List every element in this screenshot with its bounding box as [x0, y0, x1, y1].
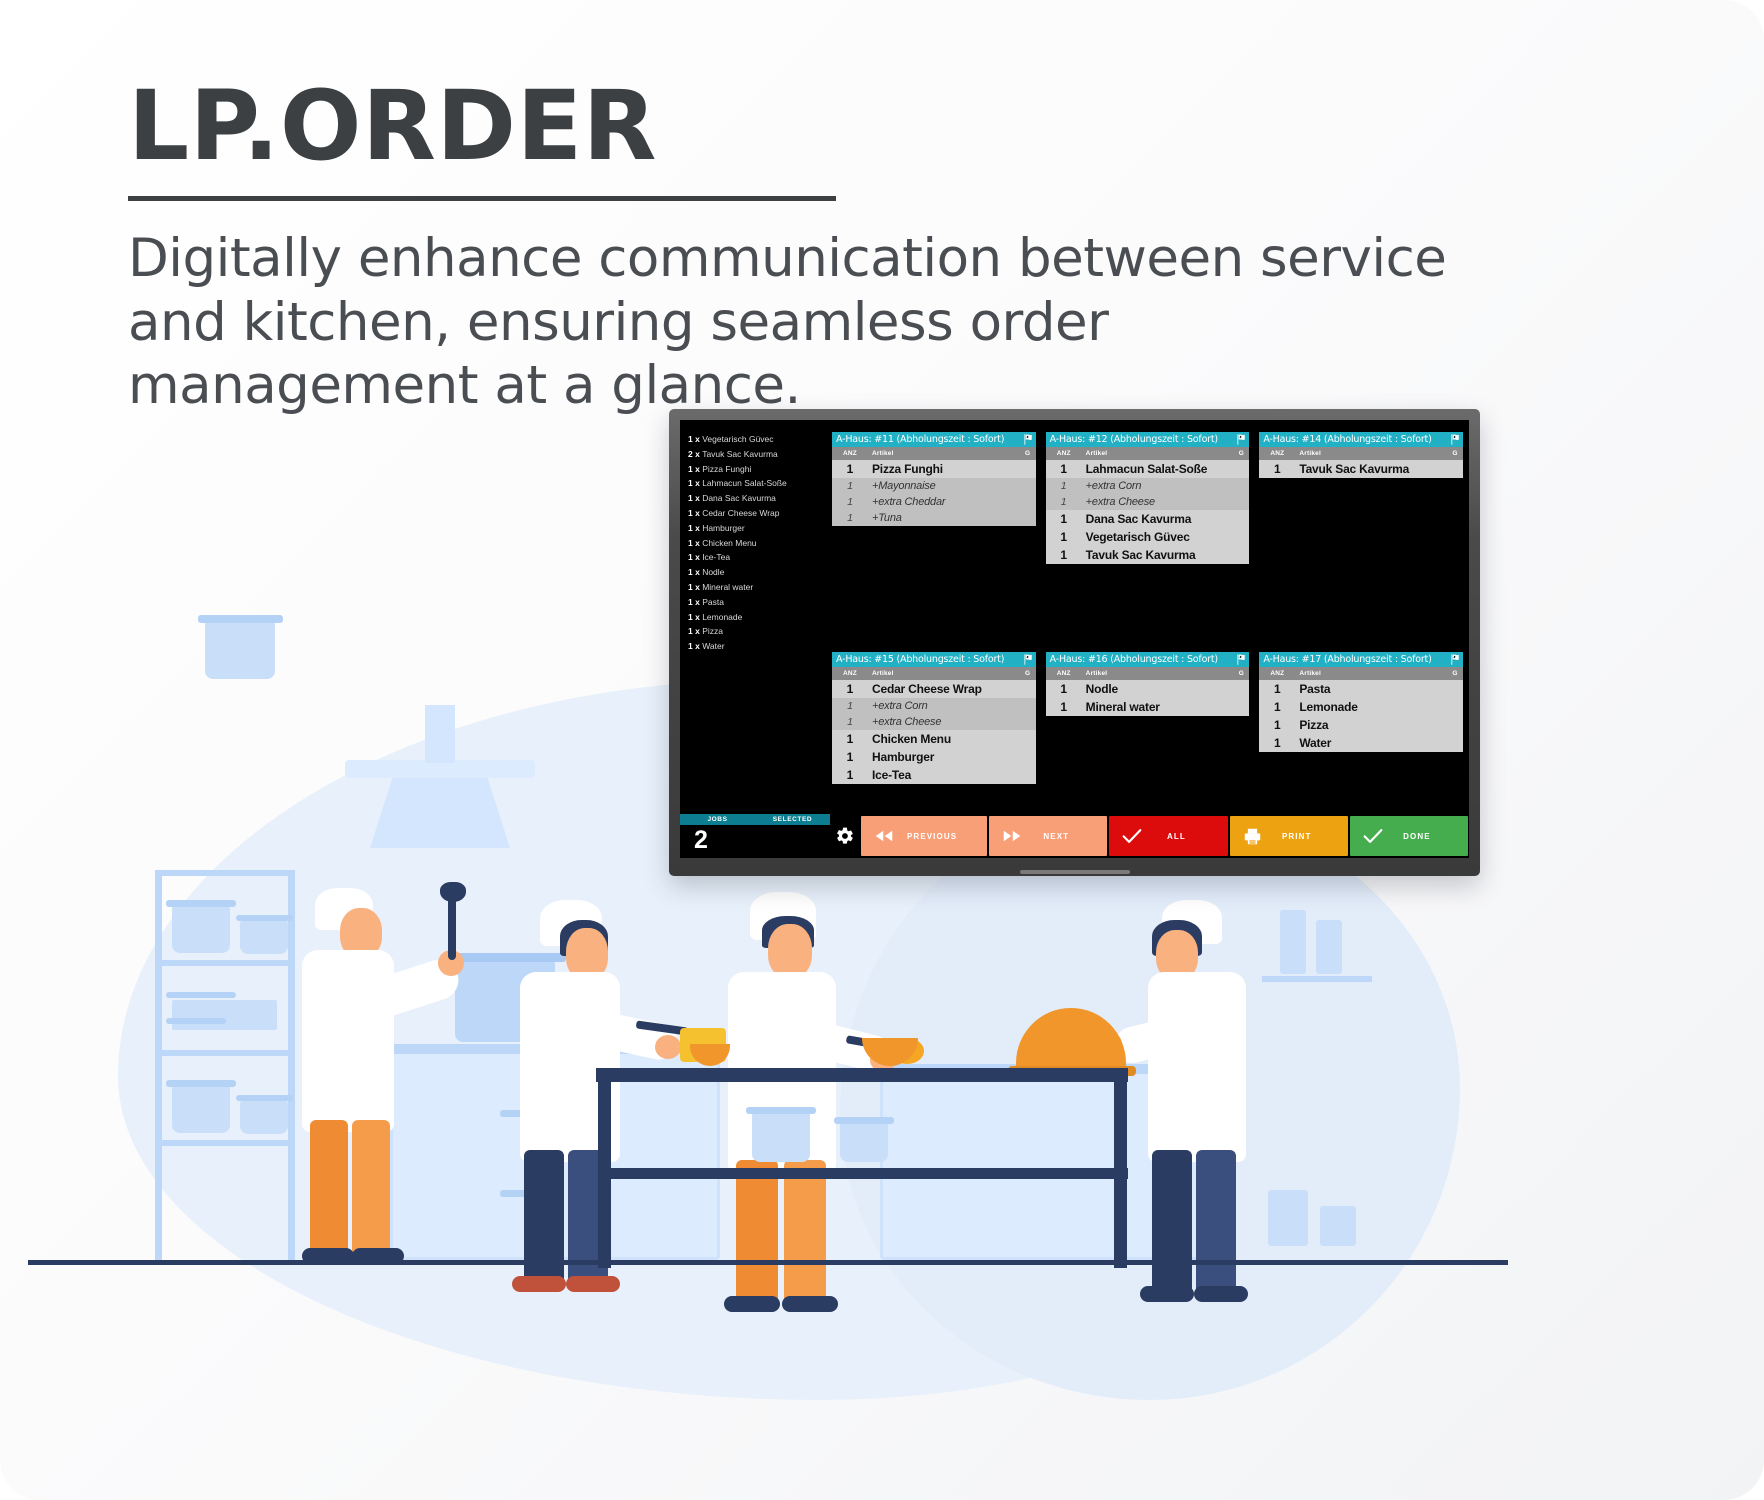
printer-icon	[1230, 828, 1276, 845]
item-qty: 1	[1046, 512, 1082, 526]
undertable-pot-1	[752, 1112, 810, 1162]
order-card-title: A-Haus: #12 (Abholungszeit : Sofort)	[1050, 434, 1218, 445]
chef-4-leg-right	[1196, 1150, 1236, 1300]
summary-row: 1 x Nodle	[688, 565, 828, 580]
order-item-row[interactable]: 1Lemonade	[1259, 698, 1463, 716]
order-item-row[interactable]: 1Vegetarisch Güvec	[1046, 528, 1250, 546]
chef-3-head	[768, 924, 812, 978]
chef-4-shoe-left	[1140, 1286, 1194, 1302]
order-item-row[interactable]: 1Tavuk Sac Kavurma	[1046, 546, 1250, 564]
shelf-post-left	[155, 870, 162, 1260]
order-cards-row-2: A-Haus: #15 (Abholungszeit : Sofort)ANZA…	[832, 652, 1463, 784]
item-qty: 1	[1259, 718, 1295, 732]
check-icon	[1350, 828, 1396, 844]
chef-1-ladle-bowl	[440, 882, 466, 902]
item-name: +Tuna	[868, 512, 1036, 524]
item-qty: 1	[832, 512, 868, 524]
order-item-row[interactable]: 1Cedar Cheese Wrap	[832, 680, 1036, 698]
order-cards-row-1: A-Haus: #11 (Abholungszeit : Sofort)ANZA…	[832, 432, 1463, 564]
item-qty: 1	[832, 496, 868, 508]
order-card-header: A-Haus: #16 (Abholungszeit : Sofort)	[1046, 652, 1250, 667]
column-header-artikel: Artikel	[1082, 670, 1234, 677]
rewind-icon	[861, 830, 907, 842]
order-card-columns: ANZArtikelG	[1259, 447, 1463, 460]
item-qty: 1	[832, 480, 868, 492]
summary-multiplier: x	[693, 434, 702, 444]
summary-row: 1 x Dana Sac Kavurma	[688, 491, 828, 506]
flag-icon[interactable]	[1235, 653, 1248, 666]
summary-item-name: Tavuk Sac Kavurma	[702, 449, 778, 459]
summary-item-name: Pasta	[702, 597, 724, 607]
summary-multiplier: x	[693, 449, 702, 459]
item-qty: 1	[1046, 496, 1082, 508]
item-name: Pizza Funghi	[868, 462, 1036, 476]
title-underline	[128, 196, 836, 201]
order-card-title: A-Haus: #16 (Abholungszeit : Sofort)	[1050, 654, 1218, 665]
pan-stack	[172, 1000, 277, 1030]
chef-3-shoe-right	[782, 1296, 838, 1312]
order-card-title: A-Haus: #15 (Abholungszeit : Sofort)	[836, 654, 1004, 665]
pot-shelf-4	[240, 1100, 288, 1134]
flag-icon[interactable]	[1449, 433, 1462, 446]
summary-row: 1 x Water	[688, 639, 828, 654]
order-item-row[interactable]: 1Chicken Menu	[832, 730, 1036, 748]
order-item-row[interactable]: 1Mineral water	[1046, 698, 1250, 716]
column-header-artikel: Artikel	[1082, 450, 1234, 457]
column-header-g: G	[1447, 670, 1463, 677]
summary-multiplier: x	[693, 493, 702, 503]
pot-shelf-1	[172, 905, 230, 953]
range-hood-body	[370, 778, 510, 848]
item-qty: 1	[1259, 462, 1295, 476]
pot-lid-shelf-3	[166, 1080, 236, 1087]
done-button-label: DONE	[1396, 832, 1468, 841]
next-button[interactable]: NEXT	[989, 816, 1107, 856]
flag-icon	[1449, 433, 1462, 446]
column-header-artikel: Artikel	[1295, 670, 1447, 677]
pot-shelf-2	[240, 920, 288, 954]
item-qty: 1	[1259, 736, 1295, 750]
order-card-title: A-Haus: #11 (Abholungszeit : Sofort)	[836, 434, 1004, 445]
order-card-body: 1Pizza Funghi1+Mayonnaise1+extra Cheddar…	[832, 460, 1036, 526]
summary-row: 2 x Tavuk Sac Kavurma	[688, 447, 828, 462]
chef-2-shoe-right	[566, 1276, 620, 1292]
summary-item-name: Water	[702, 641, 724, 651]
summary-item-name: Nodle	[702, 567, 724, 577]
prep-table-shelf	[598, 1168, 1128, 1179]
column-header-artikel: Artikel	[868, 670, 1020, 677]
summary-multiplier: x	[693, 582, 702, 592]
column-header-anz: ANZ	[1046, 450, 1082, 457]
kds-screen: 1 x Vegetarisch Güvec2 x Tavuk Sac Kavur…	[680, 420, 1469, 858]
summary-item-name: Pizza Funghi	[702, 464, 751, 474]
summary-item-name: Chicken Menu	[702, 538, 756, 548]
shelf-post-right	[288, 870, 295, 1260]
column-header-anz: ANZ	[832, 450, 868, 457]
summary-multiplier: x	[693, 612, 702, 622]
column-header-artikel: Artikel	[1295, 450, 1447, 457]
item-qty: 1	[832, 732, 868, 746]
item-qty: 1	[1259, 682, 1295, 696]
chef-3-leg-right	[784, 1160, 826, 1310]
order-modifier-row[interactable]: 1+Mayonnaise	[832, 478, 1036, 494]
range-hood-duct	[425, 705, 455, 763]
pot-shelf-3	[172, 1085, 230, 1133]
summary-item-name: Lemonade	[702, 612, 742, 622]
prep-table-top	[596, 1068, 1128, 1082]
order-card[interactable]: A-Haus: #15 (Abholungszeit : Sofort)ANZA…	[832, 652, 1036, 784]
item-name: +extra Cheese	[868, 716, 1036, 728]
flag-icon	[1449, 653, 1462, 666]
pot-lid-shelf-2	[236, 915, 293, 921]
jar-1	[1280, 910, 1306, 974]
order-card-columns: ANZArtikelG	[1046, 447, 1250, 460]
summary-multiplier: x	[693, 538, 702, 548]
column-header-g: G	[1020, 670, 1036, 677]
chef-2-leg-left	[524, 1150, 564, 1290]
item-name: Hamburger	[868, 750, 1036, 764]
item-name: Vegetarisch Güvec	[1082, 530, 1250, 544]
pot-lid-shelf-4	[236, 1095, 293, 1101]
subtitle: Digitally enhance communication between …	[128, 227, 1458, 418]
order-card-columns: ANZArtikelG	[832, 667, 1036, 680]
check-icon	[1109, 828, 1155, 844]
kds-toolbar: JOBS SELECTED 2 PREVIOUS	[680, 814, 1469, 858]
item-qty: 1	[1046, 530, 1082, 544]
order-card-header: A-Haus: #15 (Abholungszeit : Sofort)	[832, 652, 1036, 667]
summary-multiplier: x	[693, 508, 702, 518]
column-header-anz: ANZ	[832, 670, 868, 677]
column-header-anz: ANZ	[1046, 670, 1082, 677]
jar-3	[1268, 1190, 1308, 1246]
jobs-counter-header: JOBS SELECTED	[680, 814, 830, 825]
summary-row: 1 x Lahmacun Salat-Soße	[688, 476, 828, 491]
order-card-title: A-Haus: #14 (Abholungszeit : Sofort)	[1263, 434, 1431, 445]
item-qty: 1	[832, 750, 868, 764]
order-card-body: 1Tavuk Sac Kavurma	[1259, 460, 1463, 478]
flag-icon	[1235, 433, 1248, 446]
shelf-board-1	[155, 870, 295, 876]
summary-row: 1 x Lemonade	[688, 610, 828, 625]
chef-2-shoe-left	[512, 1276, 566, 1292]
print-button-label: PRINT	[1276, 832, 1348, 841]
flag-icon[interactable]	[1022, 433, 1035, 446]
order-cards-grid: A-Haus: #11 (Abholungszeit : Sofort)ANZA…	[832, 432, 1463, 784]
summary-row: 1 x Hamburger	[688, 521, 828, 536]
chef-1-leg-right	[352, 1120, 390, 1260]
undertable-pot-2-lid	[834, 1117, 894, 1124]
order-card-body: 1Cedar Cheese Wrap1+extra Corn1+extra Ch…	[832, 680, 1036, 784]
item-name: +extra Corn	[1082, 480, 1250, 492]
order-modifier-row[interactable]: 1+Tuna	[832, 510, 1036, 526]
summary-row: 1 x Pizza	[688, 624, 828, 639]
summary-item-name: Ice-Tea	[702, 552, 730, 562]
item-name: Ice-Tea	[868, 768, 1036, 782]
item-name: +extra Cheese	[1082, 496, 1250, 508]
column-header-anz: ANZ	[1259, 450, 1295, 457]
summary-row: 1 x Vegetarisch Güvec	[688, 432, 828, 447]
item-name: +extra Corn	[868, 700, 1036, 712]
order-card-columns: ANZArtikelG	[1046, 667, 1250, 680]
order-card-body: 1Nodle1Mineral water	[1046, 680, 1250, 716]
order-modifier-row[interactable]: 1+extra Cheese	[1046, 494, 1250, 510]
order-card-header: A-Haus: #17 (Abholungszeit : Sofort)	[1259, 652, 1463, 667]
pot-lid-top-shelf	[198, 615, 283, 623]
item-qty: 1	[832, 716, 868, 728]
flag-icon[interactable]	[1449, 653, 1462, 666]
item-name: Cedar Cheese Wrap	[868, 682, 1036, 696]
flag-icon	[1022, 653, 1035, 666]
floor-line	[28, 1260, 1508, 1265]
order-card[interactable]: A-Haus: #12 (Abholungszeit : Sofort)ANZA…	[1046, 432, 1250, 564]
order-item-row[interactable]: 1Dana Sac Kavurma	[1046, 510, 1250, 528]
all-button[interactable]: ALL	[1109, 816, 1227, 856]
item-qty: 1	[832, 700, 868, 712]
item-qty: 1	[1046, 548, 1082, 562]
jar-4	[1320, 1206, 1356, 1246]
item-qty: 1	[1046, 480, 1082, 492]
order-item-row[interactable]: 1Tavuk Sac Kavurma	[1259, 460, 1463, 478]
item-qty: 1	[832, 768, 868, 782]
item-name: Chicken Menu	[868, 732, 1036, 746]
previous-button[interactable]: PREVIOUS	[861, 816, 987, 856]
chef-3-leg-left	[736, 1160, 778, 1310]
order-modifier-row[interactable]: 1+extra Cheese	[832, 714, 1036, 730]
summary-row: 1 x Mineral water	[688, 580, 828, 595]
pan-handle-1	[166, 992, 236, 998]
item-qty: 1	[832, 682, 868, 696]
chef-1-leg-left	[310, 1120, 348, 1260]
jobs-count-value: 2	[680, 825, 830, 855]
order-card[interactable]: A-Haus: #11 (Abholungszeit : Sofort)ANZA…	[832, 432, 1036, 526]
column-header-g: G	[1233, 670, 1249, 677]
poster-canvas: LP.ORDER Digitally enhance communication…	[0, 0, 1764, 1500]
summary-item-name: Pizza	[702, 626, 723, 636]
item-name: Nodle	[1082, 682, 1250, 696]
item-name: +extra Cheddar	[868, 496, 1036, 508]
item-name: +Mayonnaise	[868, 480, 1036, 492]
order-item-row[interactable]: 1Ice-Tea	[832, 766, 1036, 784]
chef-3-shoe-left	[724, 1296, 780, 1312]
order-card-header: A-Haus: #11 (Abholungszeit : Sofort)	[832, 432, 1036, 447]
item-name: Pizza	[1295, 718, 1463, 732]
order-item-row[interactable]: 1Nodle	[1046, 680, 1250, 698]
selected-label: SELECTED	[755, 814, 830, 825]
pot-lid-shelf-1	[166, 900, 236, 907]
order-modifier-row[interactable]: 1+extra Corn	[1046, 478, 1250, 494]
chef-4-shoe-right	[1194, 1286, 1248, 1302]
undertable-pot-2	[840, 1122, 888, 1162]
summary-item-name: Cedar Cheese Wrap	[702, 508, 779, 518]
column-header-g: G	[1447, 450, 1463, 457]
order-item-row[interactable]: 1Water	[1259, 734, 1463, 752]
summary-row: 1 x Cedar Cheese Wrap	[688, 506, 828, 521]
column-header-artikel: Artikel	[868, 450, 1020, 457]
order-card[interactable]: A-Haus: #17 (Abholungszeit : Sofort)ANZA…	[1259, 652, 1463, 752]
item-qty: 1	[1046, 462, 1082, 476]
order-card-header: A-Haus: #14 (Abholungszeit : Sofort)	[1259, 432, 1463, 447]
pan-handle-2	[166, 1018, 226, 1024]
item-qty: 1	[1046, 700, 1082, 714]
summary-multiplier: x	[693, 597, 702, 607]
jobs-label: JOBS	[680, 814, 755, 825]
item-qty: 1	[1259, 700, 1295, 714]
summary-item-name: Hamburger	[702, 523, 745, 533]
jobs-counter: JOBS SELECTED 2	[680, 814, 830, 858]
order-card[interactable]: A-Haus: #14 (Abholungszeit : Sofort)ANZA…	[1259, 432, 1463, 478]
page-title: LP.ORDER	[128, 78, 1428, 174]
summary-row: 1 x Ice-Tea	[688, 550, 828, 565]
chef-4-coat	[1148, 972, 1246, 1162]
summary-item-name: Lahmacun Salat-Soße	[702, 478, 787, 488]
summary-multiplier: x	[693, 478, 702, 488]
chef-4-leg-left	[1152, 1150, 1192, 1300]
shelf-board-2	[155, 960, 295, 966]
order-item-row[interactable]: 1Pizza Funghi	[832, 460, 1036, 478]
item-name: Dana Sac Kavurma	[1082, 512, 1250, 526]
header: LP.ORDER Digitally enhance communication…	[128, 78, 1428, 418]
next-button-label: NEXT	[1035, 832, 1107, 841]
summary-multiplier: x	[693, 552, 702, 562]
gear-icon	[835, 826, 855, 846]
order-card-columns: ANZArtikelG	[832, 447, 1036, 460]
order-card-columns: ANZArtikelG	[1259, 667, 1463, 680]
summary-item-name: Vegetarisch Güvec	[702, 434, 773, 444]
order-item-row[interactable]: 1Lahmacun Salat-Soße	[1046, 460, 1250, 478]
kds-monitor: 1 x Vegetarisch Güvec2 x Tavuk Sac Kavur…	[669, 409, 1480, 876]
summary-multiplier: x	[693, 567, 702, 577]
summary-item-name: Dana Sac Kavurma	[702, 493, 776, 503]
item-name: Mineral water	[1082, 700, 1250, 714]
stockpot-lid	[448, 953, 566, 962]
item-name: Tavuk Sac Kavurma	[1082, 548, 1250, 562]
flag-icon[interactable]	[1235, 433, 1248, 446]
column-header-g: G	[1233, 450, 1249, 457]
order-item-row[interactable]: 1Hamburger	[832, 748, 1036, 766]
previous-button-label: PREVIOUS	[907, 832, 987, 841]
summary-multiplier: x	[693, 464, 702, 474]
print-button[interactable]: PRINT	[1230, 816, 1348, 856]
fast-forward-icon	[989, 830, 1035, 842]
flag-icon[interactable]	[1022, 653, 1035, 666]
monitor-stand	[1020, 870, 1130, 874]
item-qty: 1	[832, 462, 868, 476]
order-modifier-row[interactable]: 1+extra Cheddar	[832, 494, 1036, 510]
undertable-pot-1-lid	[746, 1107, 816, 1114]
all-button-label: ALL	[1155, 832, 1227, 841]
flag-icon	[1022, 433, 1035, 446]
order-summary-panel: 1 x Vegetarisch Güvec2 x Tavuk Sac Kavur…	[688, 432, 828, 654]
order-item-row[interactable]: 1Pizza	[1259, 716, 1463, 734]
order-card-body: 1Lahmacun Salat-Soße1+extra Corn1+extra …	[1046, 460, 1250, 564]
settings-button[interactable]	[830, 814, 860, 858]
order-modifier-row[interactable]: 1+extra Corn	[832, 698, 1036, 714]
order-card-header: A-Haus: #12 (Abholungszeit : Sofort)	[1046, 432, 1250, 447]
item-qty: 1	[1046, 682, 1082, 696]
jar-shelf	[1262, 976, 1372, 982]
order-item-row[interactable]: 1Pasta	[1259, 680, 1463, 698]
shelf-board-3	[155, 1050, 295, 1056]
done-button[interactable]: DONE	[1350, 816, 1468, 856]
pot-top-shelf	[205, 621, 275, 679]
summary-row: 1 x Chicken Menu	[688, 536, 828, 551]
summary-row: 1 x Pasta	[688, 595, 828, 610]
order-card[interactable]: A-Haus: #16 (Abholungszeit : Sofort)ANZA…	[1046, 652, 1250, 716]
summary-row: 1 x Pizza Funghi	[688, 462, 828, 477]
column-header-g: G	[1020, 450, 1036, 457]
summary-multiplier: x	[693, 523, 702, 533]
item-name: Pasta	[1295, 682, 1463, 696]
shelf-board-4	[155, 1140, 295, 1146]
flag-icon	[1235, 653, 1248, 666]
item-name: Lahmacun Salat-Soße	[1082, 462, 1250, 476]
column-header-anz: ANZ	[1259, 670, 1295, 677]
summary-multiplier: x	[693, 641, 702, 651]
order-card-title: A-Haus: #17 (Abholungszeit : Sofort)	[1263, 654, 1431, 665]
item-name: Water	[1295, 736, 1463, 750]
jar-2	[1316, 920, 1342, 974]
summary-multiplier: x	[693, 626, 702, 636]
order-card-body: 1Pasta1Lemonade1Pizza1Water	[1259, 680, 1463, 752]
summary-item-name: Mineral water	[702, 582, 753, 592]
item-name: Tavuk Sac Kavurma	[1295, 462, 1463, 476]
item-name: Lemonade	[1295, 700, 1463, 714]
chef-2-hand	[655, 1035, 681, 1059]
